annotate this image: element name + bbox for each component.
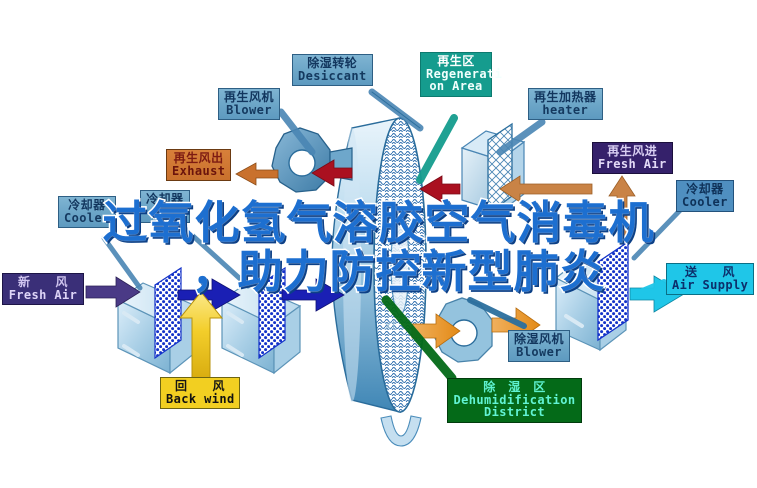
label-dehum-blower-cn: 除湿风机 [514,333,564,346]
label-fresh-air-cn: 新 风 [8,276,78,289]
label-dehumidification-district[interactable]: 除 湿 区 Dehumidification District [447,378,582,423]
label-regen-fresh-cn: 再生风进 [598,145,667,158]
label-cooler-left-2-cn: 冷却器 [146,193,184,206]
label-air-supply-en: Air Supply [672,279,748,292]
label-regeneration-blower[interactable]: 再生风机 Blower [218,88,280,120]
label-cooler-left-1[interactable]: 冷却器 Cooler [58,196,116,228]
label-dehum-district-cn: 除 湿 区 [453,381,576,394]
label-regen-blower-en: Blower [224,104,274,117]
label-desiccant-cn: 除湿转轮 [298,57,367,70]
label-fresh-air-en: Fresh Air [8,289,78,302]
label-exhaust-en: Exhaust [172,165,225,178]
label-regen-blower-cn: 再生风机 [224,91,274,104]
label-heater-en: heater [534,104,597,117]
label-dehum-district-en-2: District [453,406,576,419]
cooler-unit-left-2 [222,268,300,373]
label-regeneration-area[interactable]: 再生区 Regenerati on Area [420,52,492,97]
label-back-wind[interactable]: 回 风 Back wind [160,377,240,409]
label-cooler-left-1-cn: 冷却器 [64,199,110,212]
label-desiccant-en: Desiccant [298,70,367,83]
label-exhaust[interactable]: 再生风出 Exhaust [166,149,231,181]
machine-schematic: xt [0,0,757,488]
label-regeneration-fresh-air[interactable]: 再生风进 Fresh Air [592,142,673,174]
label-air-supply-cn: 送 风 [672,266,748,279]
label-dehum-blower-en: Blower [514,346,564,359]
label-back-wind-cn: 回 风 [166,380,234,393]
watermark-text: xt [384,319,397,334]
label-regen-area-cn: 再生区 [426,55,486,68]
label-desiccant[interactable]: 除湿转轮 Desiccant [292,54,373,86]
label-exhaust-cn: 再生风出 [172,152,225,165]
label-air-supply[interactable]: 送 风 Air Supply [666,263,754,295]
label-cooler-right-en: Cooler [682,196,728,209]
heater-in-arrow [500,176,592,202]
label-regen-fresh-en: Fresh Air [598,158,667,171]
label-cooler-left-2[interactable]: 冷却器 [140,190,190,223]
label-cooler-left-1-en: Cooler [64,212,110,225]
cooler-unit-left-1 [118,268,196,373]
fresh-air-up-arrow [609,176,635,240]
label-regen-area-en-2: on Area [426,80,486,93]
label-back-wind-en: Back wind [166,393,234,406]
label-regeneration-heater[interactable]: 再生加热器 heater [528,88,603,120]
label-dehumidification-blower[interactable]: 除湿风机 Blower [508,330,570,362]
label-heater-cn: 再生加热器 [534,91,597,104]
dehumidifier-diagram: xt [0,0,757,488]
label-cooler-right-cn: 冷却器 [682,183,728,196]
label-cooler-right[interactable]: 冷却器 Cooler [676,180,734,212]
regen-heat-arrow [420,176,460,202]
label-fresh-air[interactable]: 新 风 Fresh Air [2,273,84,305]
